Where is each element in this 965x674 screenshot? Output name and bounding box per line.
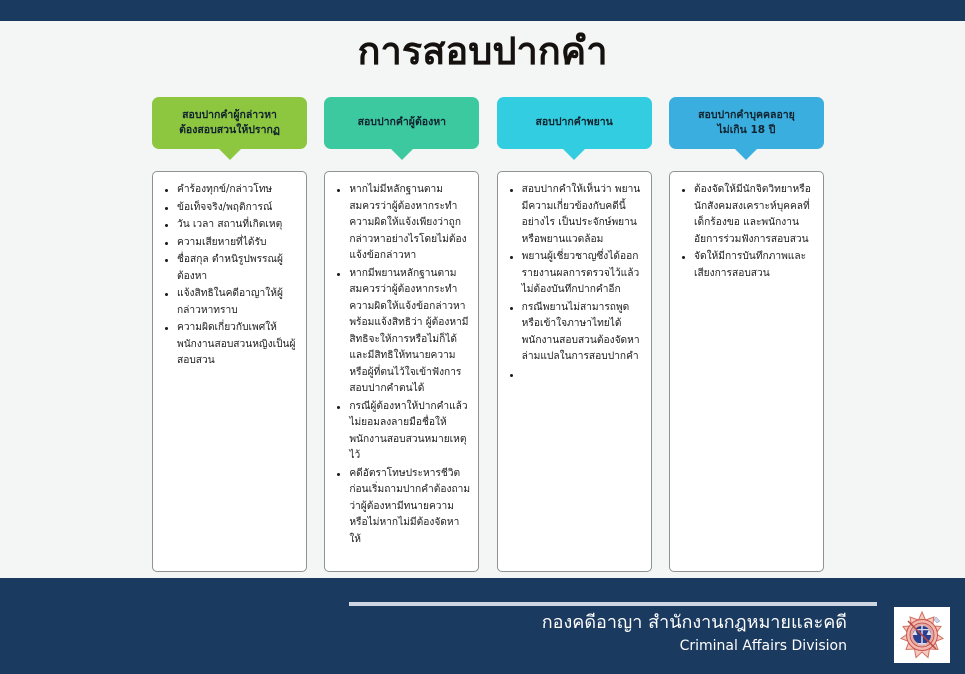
columns-container: สอบปากคำผู้กล่าวหา ต้องสอบสวนให้ปรากฏ คำ… [152, 97, 824, 572]
list-item: ชื่อสกุล ตำหนิรูปพรรณผู้ต้องหา [175, 252, 298, 285]
column-header-accuser: สอบปากคำผู้กล่าวหา ต้องสอบสวนให้ปรากฏ [152, 97, 307, 149]
bullet-list: หากไม่มีหลักฐานตามสมควรว่าผู้ต้องหากระทำ… [331, 182, 470, 548]
bullet-list: สอบปากคำให้เห็นว่า พยานมีความเกี่ยวข้องก… [504, 182, 643, 381]
list-item: สอบปากคำให้เห็นว่า พยานมีความเกี่ยวข้องก… [520, 182, 643, 248]
footer-credit: กองคดีอาญา สำนักงานกฎหมายและคดี Criminal… [542, 611, 847, 656]
slide: การสอบปากคำ สอบปากคำผู้กล่าวหา ต้องสอบสว… [0, 0, 965, 674]
footer-thai-label: กองคดีอาญา สำนักงานกฎหมายและคดี [542, 611, 847, 635]
list-item: คำร้องทุกข์/กล่าวโทษ [175, 182, 298, 199]
list-item: พยานผู้เชี่ยวชาญซึ่งได้ออกรายงานผลการตรว… [520, 249, 643, 299]
column-card-witness: สอบปากคำให้เห็นว่า พยานมีความเกี่ยวข้องก… [497, 171, 652, 572]
column-arrow-icon [219, 149, 241, 160]
list-item: วัน เวลา สถานที่เกิดเหตุ [175, 217, 298, 234]
column-accuser: สอบปากคำผู้กล่าวหา ต้องสอบสวนให้ปรากฏ คำ… [152, 97, 307, 572]
column-witness: สอบปากคำพยาน สอบปากคำให้เห็นว่า พยานมีคว… [497, 97, 652, 572]
bullet-list: ต้องจัดให้มีนักจิตวิทยาหรือนักสังคมสงเคร… [676, 182, 815, 282]
list-item: ต้องจัดให้มีนักจิตวิทยาหรือนักสังคมสงเคร… [692, 182, 815, 248]
column-header-line1: สอบปากคำบุคคลอายุ [698, 108, 795, 123]
column-header-line1: สอบปากคำผู้ต้องหา [358, 115, 446, 130]
list-item: แจ้งสิทธิในคดีอาญาให้ผู้กล่าวหาทราบ [175, 286, 298, 319]
column-header-suspect: สอบปากคำผู้ต้องหา [324, 97, 479, 149]
list-item: กรณีผู้ต้องหาให้ปากคำแล้วไม่ยอมลงลายมือช… [347, 399, 470, 465]
footer-divider [349, 602, 877, 606]
list-item: หากมีพยานหลักฐานตามสมควรว่าผู้ต้องหากระท… [347, 266, 470, 398]
column-arrow-icon [735, 149, 757, 160]
column-suspect: สอบปากคำผู้ต้องหา หากไม่มีหลักฐานตามสมคว… [324, 97, 479, 572]
column-card-suspect: หากไม่มีหลักฐานตามสมควรว่าผู้ต้องหากระทำ… [324, 171, 479, 572]
list-item: ข้อเท็จจริง/พฤติการณ์ [175, 200, 298, 217]
footer-english-label: Criminal Affairs Division [542, 637, 847, 656]
list-item: ความผิดเกี่ยวกับเพศให้พนักงานสอบสวนหญิงเ… [175, 320, 298, 370]
list-item [520, 367, 643, 381]
bullet-list: คำร้องทุกข์/กล่าวโทษ ข้อเท็จจริง/พฤติการ… [159, 182, 298, 370]
top-band [0, 0, 965, 21]
column-arrow-icon [563, 149, 585, 160]
column-header-line1: สอบปากคำพยาน [535, 115, 612, 130]
column-header-line2: ต้องสอบสวนให้ปรากฏ [179, 123, 280, 138]
list-item: หากไม่มีหลักฐานตามสมควรว่าผู้ต้องหากระทำ… [347, 182, 470, 265]
column-header-line1: สอบปากคำผู้กล่าวหา [179, 108, 280, 123]
list-item: จัดให้มีการบันทึกภาพและเสียงการสอบสวน [692, 249, 815, 282]
column-header-line2: ไม่เกิน 18 ปี [698, 123, 795, 138]
list-item: คดีอัตราโทษประหารชีวิตก่อนเริ่มถามปากคำต… [347, 466, 470, 549]
page-title: การสอบปากคำ [0, 28, 965, 76]
column-header-witness: สอบปากคำพยาน [497, 97, 652, 149]
column-card-minor: ต้องจัดให้มีนักจิตวิทยาหรือนักสังคมสงเคร… [669, 171, 824, 572]
column-arrow-icon [391, 149, 413, 160]
list-item: ความเสียหายที่ได้รับ [175, 235, 298, 252]
list-item: กรณีพยานไม่สามารถพูดหรือเข้าใจภาษาไทยได้… [520, 300, 643, 366]
royal-thai-police-emblem-icon [894, 607, 950, 663]
column-card-accuser: คำร้องทุกข์/กล่าวโทษ ข้อเท็จจริง/พฤติการ… [152, 171, 307, 572]
column-minor: สอบปากคำบุคคลอายุ ไม่เกิน 18 ปี ต้องจัดใ… [669, 97, 824, 572]
column-header-minor: สอบปากคำบุคคลอายุ ไม่เกิน 18 ปี [669, 97, 824, 149]
